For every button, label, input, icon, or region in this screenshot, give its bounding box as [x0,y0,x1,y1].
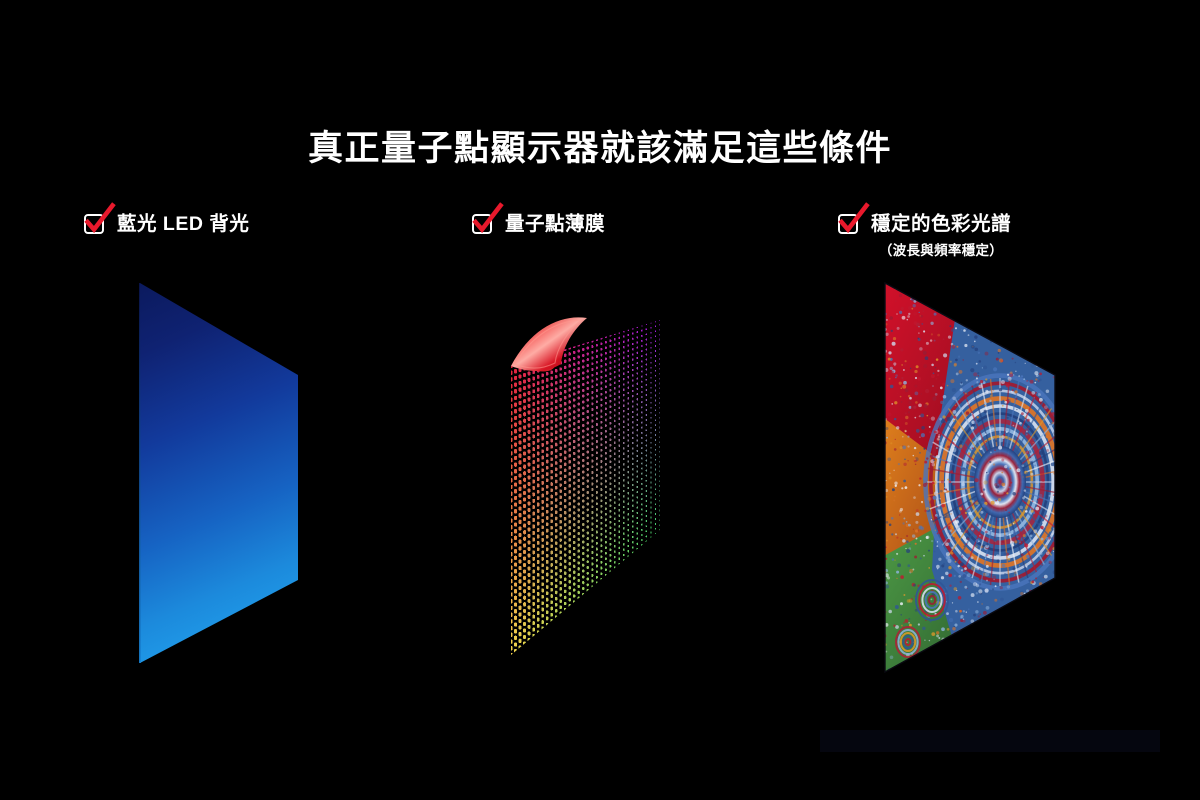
qd-dot [559,422,561,425]
mandala-texture-dot [1023,476,1024,477]
qd-dot [591,460,593,463]
mandala-texture-dot [936,631,939,634]
mandala-texture-dot [1073,429,1075,431]
mandala-texture-dot [985,352,989,356]
qd-dot [550,383,552,387]
mandala-texture-dot [1053,662,1055,664]
qd-dot [623,463,625,465]
mandala-texture-dot [916,512,920,516]
qd-dot [628,540,630,542]
qd-dot [537,483,540,487]
qd-dot [618,493,620,495]
mandala-texture-dot [961,329,962,330]
qd-dot [659,436,660,438]
qd-dot [632,463,634,465]
mandala-texture-dot [977,679,981,683]
mandala-texture-dot [947,539,951,543]
mandala-texture-dot [990,279,992,281]
qd-dot [591,448,593,451]
qd-dot [655,449,656,451]
mandala-texture-dot [938,558,941,561]
mandala-texture-dot [892,342,896,346]
qd-dot [523,609,526,613]
qd-dot [514,549,517,553]
mandala-texture-dot [1034,309,1036,311]
mandala-texture-dot [923,310,924,311]
qd-dot [541,411,544,415]
mandala-texture-dot [974,478,978,482]
qd-dot [514,409,517,413]
mandala-texture-dot [882,565,883,566]
qd-dot [510,512,513,516]
qd-dot [650,362,651,364]
qd-dot [587,410,589,413]
mandala-texture-dot [966,489,968,491]
mandala-texture-dot [1017,316,1020,319]
mandala-texture-dot [920,413,924,417]
mandala-texture-dot [943,683,944,684]
qd-dot [582,511,584,514]
qd-dot [618,364,620,366]
qd-dot [582,453,584,456]
mandala-texture-dot [1019,565,1020,566]
qd-dot [614,333,616,336]
mandala-texture-dot [983,488,985,490]
qd-dot [650,462,651,464]
mandala-texture-dot [1072,469,1076,473]
qd-dot [510,525,513,529]
mandala-texture-dot [1049,347,1051,349]
mandala-texture-dot [1072,509,1074,511]
qd-dot [528,592,531,596]
qd-dot [605,358,607,361]
mandala-texture-dot [1046,617,1049,620]
qd-dot [609,466,611,469]
qd-dot [578,467,580,470]
qd-dot [591,368,593,371]
qd-dot [587,497,589,500]
qd-dot [514,476,517,480]
qd-dot [623,399,625,401]
qd-dot [578,573,580,576]
qd-dot [587,491,589,494]
mandala-texture-dot [1057,533,1059,535]
qd-dot [519,407,522,411]
mandala-texture-dot [1062,446,1065,449]
mandala-texture-dot [978,634,981,637]
mandala-texture-dot [1060,582,1063,585]
check-mark-icon [83,205,117,239]
qd-dot [600,471,602,474]
qd-dot [650,527,651,529]
qd-dot [569,562,571,565]
mandala-texture-dot [1012,291,1014,293]
qd-dot [623,330,625,332]
mandala-texture-dot [895,485,897,487]
qd-dot [573,351,575,354]
qd-dot [659,422,660,424]
qd-dot [559,404,561,407]
qd-dot [637,357,639,359]
mandala-texture-dot [874,480,877,483]
qd-dot [523,452,526,456]
qd-dot [659,358,660,360]
mandala-texture-dot [915,529,918,532]
qd-dot [637,372,639,374]
qd-dot [605,502,607,505]
qd-dot [659,485,660,487]
qd-dot [582,430,584,433]
qd-dot [659,397,660,399]
qd-dot [569,460,571,463]
qd-dot [623,506,625,508]
qd-dot [546,541,549,545]
mandala-texture-dot [1058,421,1060,423]
qd-dot [600,466,602,469]
qd-dot [637,341,639,343]
qd-dot [591,345,593,348]
mandala-texture-dot [966,652,968,654]
qd-dot [632,374,634,376]
qd-dot [514,389,517,393]
mandala-texture-dot [998,652,1001,655]
mandala-texture-dot [896,683,898,685]
qd-dot [555,560,557,564]
qd-dot [564,354,566,357]
mandala-texture-dot [1038,640,1039,641]
qd-dot [587,537,589,540]
mandala-texture-dot [962,316,964,318]
qd-dot [523,393,526,397]
mandala-texture-dot [979,636,982,639]
mandala-texture-dot [874,395,878,399]
mandala-texture-dot [1060,466,1062,468]
mandala-texture-dot [934,298,937,301]
qd-dot [587,549,589,552]
qd-dot [546,466,549,470]
qd-dot [650,382,651,384]
mandala-texture-dot [971,385,973,387]
qd-dot [559,398,561,401]
qd-dot [650,442,651,444]
qd-dot [596,417,598,420]
qd-dot [582,459,584,462]
mandala-texture-dot [1073,519,1075,521]
qd-dot [559,532,561,535]
mandala-texture-dot [930,339,932,341]
mandala-texture-dot [983,365,987,369]
qd-dot [541,614,544,618]
qd-dot [614,512,616,515]
qd-dot [578,579,580,582]
mandala-texture-dot [1018,679,1019,680]
mandala-texture-dot [1012,544,1015,547]
qd-dot [582,523,584,526]
qd-dot [550,377,552,381]
mandala-texture-dot [1057,618,1059,620]
mandala-texture-dot [1026,431,1028,433]
mandala-texture-dot [1059,336,1063,340]
mandala-texture-dot [984,672,986,674]
qd-dot [650,357,651,359]
mandala-texture-dot [909,397,912,400]
qd-dot [632,327,634,329]
qd-dot [510,465,513,469]
qd-dot [564,450,566,453]
qd-dot [550,563,552,567]
mandala-texture-dot [968,502,972,506]
qd-dot [600,426,602,429]
checkbox-checked-icon[interactable] [838,214,862,238]
qd-dot [510,411,513,415]
mandala-texture-dot [962,679,965,682]
mandala-texture-dot [989,648,993,652]
mandala-texture-dot [1032,580,1035,583]
mandala-texture-dot [1046,552,1050,556]
mandala-texture-dot [966,411,969,414]
qd-dot [655,340,656,342]
mandala-texture-dot [893,362,896,365]
mandala-texture-dot [1016,515,1019,518]
qd-dot [537,509,540,513]
qd-dot [628,529,630,531]
mandala-texture-dot [988,311,989,312]
qd-dot [646,515,647,517]
mandala-texture-dot [932,482,935,485]
mandala-texture-dot [928,497,932,501]
qd-dot [555,548,557,552]
mandala-texture-dot [1015,362,1017,364]
mandala-texture-dot [980,680,983,683]
mandala-texture-dot [897,393,898,394]
mandala-texture-dot [927,281,929,283]
qd-dot [582,371,584,374]
qd-dot [614,556,616,559]
qd-dot [591,374,593,377]
mandala-texture-dot [1052,529,1054,531]
mandala-texture-dot [1067,660,1071,664]
qd-dot [632,364,634,366]
mandala-texture-dot [1049,548,1052,551]
qd-dot [646,485,647,487]
mandala-texture-dot [976,339,977,340]
qd-dot [605,496,607,499]
qd-dot [532,595,535,599]
mandala-texture-dot [906,286,908,288]
qd-dot [637,532,639,534]
mandala-texture-dot [1013,329,1015,331]
qd-dot [550,520,552,524]
mandala-texture-dot [977,641,980,644]
qd-dot [523,576,526,580]
qd-dot [637,455,639,457]
qd-dot [523,589,526,593]
qd-dot [650,537,651,539]
qd-dot [582,587,584,590]
qd-dot [514,562,517,566]
qd-dot [623,527,625,529]
qd-dot [523,438,526,442]
mandala-texture-dot [1039,379,1042,382]
mandala-texture-dot [1037,276,1041,280]
mandala-texture-dot [952,428,955,431]
quantum-dot-panel-graphic [495,300,685,690]
qd-dot [578,526,580,529]
mandala-texture-dot [1052,283,1055,286]
qd-dot [541,506,544,510]
qd-dot [510,485,513,489]
qd-dot [559,379,561,382]
qd-dot [641,544,643,546]
qd-dot [641,539,643,541]
qd-dot [578,520,580,523]
qd-dot [582,494,584,497]
checkbox-checked-icon[interactable] [472,214,496,238]
mandala-texture-dot [1072,375,1076,379]
mandala-texture-dot [907,435,909,437]
qd-dot [569,370,571,373]
mandala-texture-dot [904,664,907,667]
qd-dot [655,375,656,377]
mandala-texture-dot [949,460,951,462]
mandala-texture-dot [879,386,880,387]
qd-dot [523,432,526,436]
qd-dot [659,339,660,341]
mandala-texture-dot [1009,311,1011,313]
qd-dot [641,462,643,464]
mandala-texture-dot [1065,599,1067,601]
mandala-texture-dot [925,389,929,393]
qd-dot [605,485,607,488]
qd-dot [641,432,643,434]
qd-dot [537,420,540,424]
mandala-texture-dot [979,519,981,521]
mandala-texture-dot [898,463,900,465]
qd-dot [582,564,584,567]
mandala-texture-dot [952,397,956,401]
mandala-texture-dot [1013,374,1014,375]
qd-dot [573,345,575,348]
qd-dot [605,541,607,544]
mandala-texture-dot [995,327,997,329]
qd-dot [537,503,540,507]
mandala-texture-dot [1004,573,1007,576]
mandala-texture-dot [1033,601,1037,605]
mandala-texture-dot [1073,543,1075,545]
qd-dot [582,540,584,543]
mandala-texture-dot [968,452,971,455]
qd-dot [573,363,575,366]
qd-dot [655,464,656,466]
mandala-texture-dot [1008,612,1011,615]
qd-dot [510,619,513,623]
qd-dot [591,580,593,583]
mandala-texture-dot [1035,507,1039,511]
mandala-texture-dot [1003,492,1005,494]
mandala-texture-dot [1034,371,1038,375]
qd-dot [578,544,580,547]
qd-dot [600,455,602,458]
qd-dot [600,348,602,351]
qd-dot [637,434,639,436]
mandala-texture-dot [961,483,965,487]
mandala-texture-dot [1013,310,1015,312]
mandala-texture-dot [1015,314,1017,316]
qd-dot [600,516,602,519]
qd-dot [641,350,643,352]
qd-dot [528,501,531,505]
mandala-texture-dot [938,434,940,436]
mandala-texture-dot [997,302,998,303]
mandala-texture-dot [976,377,978,379]
qd-dot [605,335,607,338]
qd-dot [555,541,557,545]
mandala-texture-dot [994,534,997,537]
mandala-texture-dot [880,435,883,438]
mandala-texture-dot [1014,314,1017,317]
qd-dot [587,439,589,442]
mandala-texture-dot [1026,434,1028,436]
qd-dot [573,440,575,443]
qd-dot [555,430,557,434]
qd-dot [605,430,607,433]
mandala-texture-dot [895,439,896,440]
qd-dot [623,431,625,433]
qd-dot [582,581,584,584]
mandala-texture-dot [1041,310,1044,313]
mandala-texture-dot [1059,508,1061,510]
qd-dot [614,452,616,455]
mandala-texture-dot [1042,671,1044,673]
mandala-texture-dot [945,668,947,670]
mandala-texture-dot [1031,510,1034,513]
mandala-texture-dot [943,310,945,312]
qd-dot [555,585,557,589]
qd-dot [523,406,526,410]
qd-dot [655,444,656,446]
mandala-texture-dot [1066,592,1068,594]
mandala-texture-dot [1061,319,1063,321]
qd-dot [532,441,535,445]
mandala-texture-dot [1057,468,1059,470]
mandala-texture-dot [1057,607,1060,610]
mandala-texture-dot [894,482,897,485]
qd-dot [623,447,625,449]
qd-dot [641,365,643,367]
mandala-texture-dot [998,498,1001,501]
qd-dot [605,441,607,444]
mandala-texture-dot [886,496,888,498]
mandala-texture-dot [1051,422,1053,424]
qd-dot [591,534,593,537]
mandala-texture-dot [888,351,891,354]
qd-dot [510,532,513,536]
mandala-texture-dot [1062,586,1066,590]
qd-dot [573,517,575,520]
qd-dot [637,336,639,338]
mandala-texture-dot [1056,505,1058,507]
mandala-texture-dot [1068,648,1072,652]
mandala-texture-dot [933,372,935,374]
qd-dot [618,477,620,479]
checkbox-checked-icon[interactable] [84,214,108,238]
qd-dot [632,505,634,507]
mandala-texture-dot [1061,342,1064,345]
qd-dot [578,373,580,376]
qd-dot [519,493,522,497]
mandala-texture-dot [943,395,947,399]
mandala-texture-dot [1057,393,1059,395]
